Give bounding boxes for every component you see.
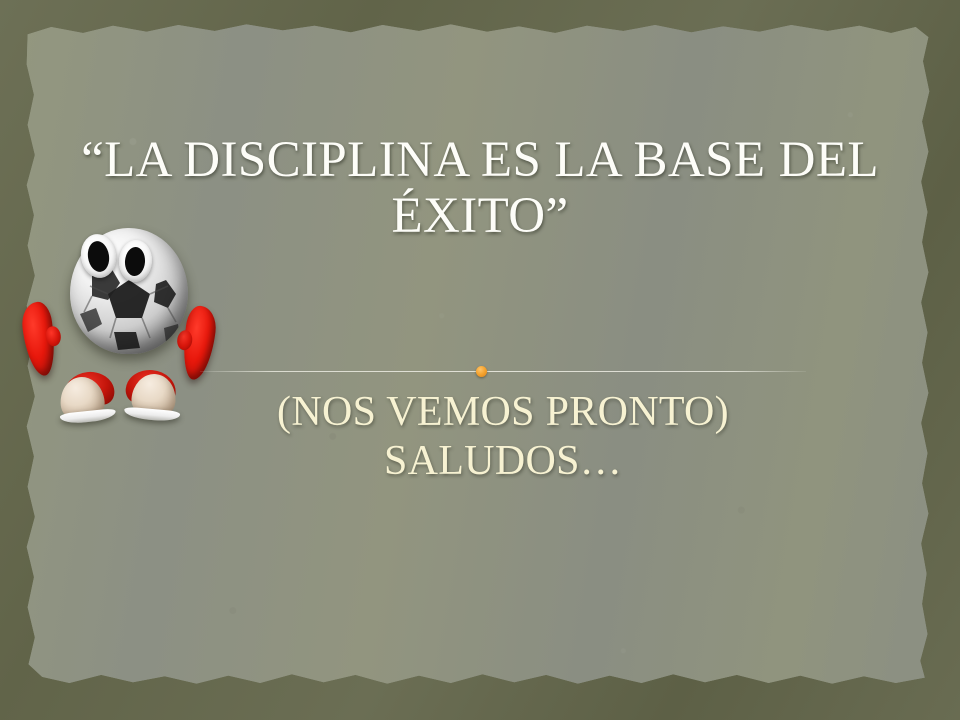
slide-title: “LA DISCIPLINA ES LA BASE DEL ÉXITO” (80, 132, 880, 244)
divider (200, 371, 806, 373)
subtitle-line-1: (NOS VEMOS PRONTO) (200, 388, 806, 437)
subtitle-line-2: SALUDOS… (200, 437, 806, 486)
mascot-left-shoe-icon (60, 372, 118, 424)
title-line-2: ÉXITO” (80, 188, 880, 244)
title-line-1: “LA DISCIPLINA ES LA BASE DEL (80, 132, 880, 188)
divider-rule (200, 371, 806, 372)
mascot-left-hand-icon (20, 300, 59, 377)
presentation-slide: “LA DISCIPLINA ES LA BASE DEL ÉXITO” (NO… (0, 0, 960, 720)
left-thumb (45, 325, 62, 347)
mascot-right-shoe-icon (122, 370, 180, 422)
divider-dot-icon (476, 366, 487, 377)
slide-subtitle: (NOS VEMOS PRONTO) SALUDOS… (200, 388, 806, 486)
